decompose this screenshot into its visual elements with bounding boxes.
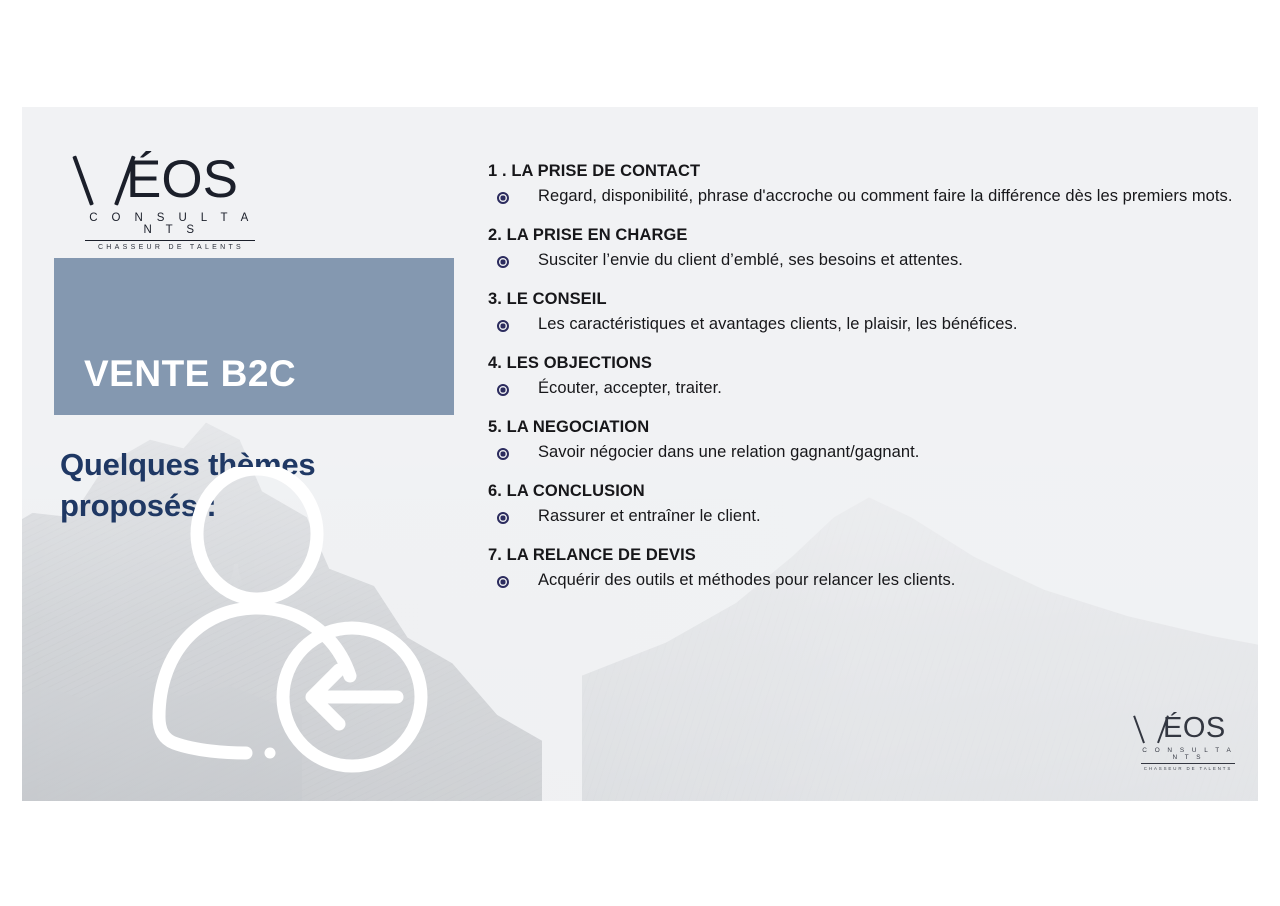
watermark-logo-tagline: CHASSEUR DE TALENTS xyxy=(1140,766,1236,771)
agenda-section: 7. LA RELANCE DE DEVIS Acquérir des outi… xyxy=(488,546,1248,592)
agenda-bullet-row: Susciter l’envie du client d’emblé, ses … xyxy=(497,250,1248,272)
agenda-bullet-text: Les caractéristiques et avantages client… xyxy=(538,314,1017,336)
agenda-bullet-text: Acquérir des outils et méthodes pour rel… xyxy=(538,570,955,592)
watermark-logo-subtitle: C O N S U L T A N T S xyxy=(1140,747,1236,761)
agenda-bullet-row: Écouter, accepter, traiter. xyxy=(497,378,1248,400)
target-bullet-icon xyxy=(497,192,509,204)
agenda-heading: 6. LA CONCLUSION xyxy=(488,482,1248,501)
target-bullet-icon xyxy=(497,576,509,588)
agenda-bullet-row: Acquérir des outils et méthodes pour rel… xyxy=(497,570,1248,592)
title-block: VENTE B2C xyxy=(54,258,454,415)
agenda-section: 4. LES OBJECTIONS Écouter, accepter, tra… xyxy=(488,354,1248,400)
target-bullet-icon xyxy=(497,256,509,268)
lambda-a-icon xyxy=(84,153,124,205)
agenda-heading: 7. LA RELANCE DE DEVIS xyxy=(488,546,1248,565)
agenda-section: 6. LA CONCLUSION Rassurer et entraîner l… xyxy=(488,482,1248,528)
target-bullet-icon xyxy=(497,448,509,460)
agenda-heading: 1 . LA PRISE DE CONTACT xyxy=(488,162,1248,181)
agenda-section: 3. LE CONSEIL Les caractéristiques et av… xyxy=(488,290,1248,336)
agenda-bullet-row: Les caractéristiques et avantages client… xyxy=(497,314,1248,336)
target-bullet-icon xyxy=(497,512,509,524)
agenda-section: 5. LA NEGOCIATION Savoir négocier dans u… xyxy=(488,418,1248,464)
brand-logo-divider xyxy=(85,240,255,241)
agenda-bullet-text: Écouter, accepter, traiter. xyxy=(538,378,722,400)
agenda-section: 2. LA PRISE EN CHARGE Susciter l’envie d… xyxy=(488,226,1248,272)
agenda-bullet-row: Rassurer et entraîner le client. xyxy=(497,506,1248,528)
page-title: VENTE B2C xyxy=(84,353,296,395)
brand-logo: ÉOS C O N S U L T A N T S CHASSEUR DE TA… xyxy=(84,152,256,251)
brand-logo-subtitle: C O N S U L T A N T S xyxy=(84,212,256,236)
agenda-heading: 4. LES OBJECTIONS xyxy=(488,354,1248,373)
agenda-heading: 2. LA PRISE EN CHARGE xyxy=(488,226,1248,245)
agenda-heading: 5. LA NEGOCIATION xyxy=(488,418,1248,437)
agenda-bullet-text: Susciter l’envie du client d’emblé, ses … xyxy=(538,250,963,272)
agenda-bullet-text: Rassurer et entraîner le client. xyxy=(538,506,761,528)
watermark-logo-wordmark: ÉOS xyxy=(1140,714,1236,743)
person-with-left-arrow-icon xyxy=(118,467,438,783)
brand-logo-name: ÉOS xyxy=(126,153,238,206)
agenda-bullet-text: Savoir négocier dans une relation gagnan… xyxy=(538,442,919,464)
watermark-logo: ÉOS C O N S U L T A N T S CHASSEUR DE TA… xyxy=(1140,714,1236,771)
brand-logo-tagline: CHASSEUR DE TALENTS xyxy=(84,244,256,251)
agenda-list: 1 . LA PRISE DE CONTACT Regard, disponib… xyxy=(488,162,1248,592)
slide-canvas: ÉOS C O N S U L T A N T S CHASSEUR DE TA… xyxy=(22,107,1258,801)
brand-logo-wordmark: ÉOS xyxy=(84,152,256,205)
agenda-bullet-text: Regard, disponibilité, phrase d'accroche… xyxy=(538,186,1232,208)
target-bullet-icon xyxy=(497,384,509,396)
lambda-a-icon xyxy=(1140,714,1162,743)
agenda-section: 1 . LA PRISE DE CONTACT Regard, disponib… xyxy=(488,162,1248,208)
agenda-heading: 3. LE CONSEIL xyxy=(488,290,1248,309)
agenda-bullet-row: Regard, disponibilité, phrase d'accroche… xyxy=(497,186,1248,208)
target-bullet-icon xyxy=(497,320,509,332)
watermark-logo-name: ÉOS xyxy=(1163,714,1226,743)
watermark-logo-divider xyxy=(1141,763,1235,764)
agenda-bullet-row: Savoir négocier dans une relation gagnan… xyxy=(497,442,1248,464)
